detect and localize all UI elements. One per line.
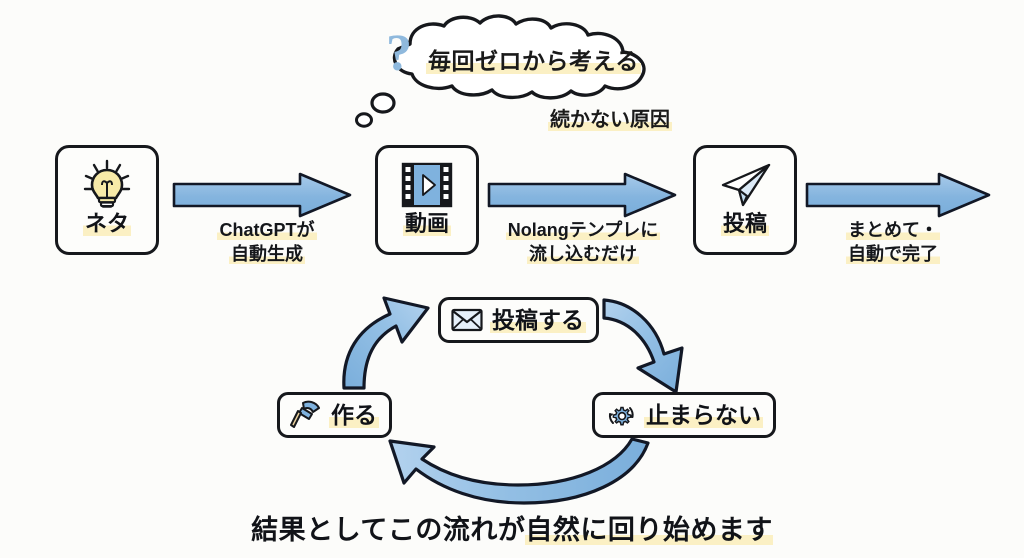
flow-arrow-3-caption: まとめて・ 自動で完了 <box>808 218 978 267</box>
cycle-node-post[interactable]: 投稿する <box>438 297 599 343</box>
video-film-icon <box>378 158 476 212</box>
hammer-icon <box>290 399 322 431</box>
flow-card-label: 投稿 <box>696 206 794 238</box>
bottom-caption-highlighted: 自然に回り始めます <box>525 515 773 545</box>
flow-arrow-3-icon <box>805 172 993 218</box>
flow-card-label: 動画 <box>378 206 476 238</box>
flow-card-label: ネタ <box>58 206 156 238</box>
flow-arrow-1-caption: ChatGPTが 自動生成 <box>182 218 352 267</box>
bottom-caption-plain: 結果としてこの流れが <box>251 515 525 545</box>
flow-arrow-1-icon <box>172 172 354 218</box>
cycle-node-label: 止まらない <box>644 404 763 427</box>
flow-card-douga[interactable]: 動画 <box>375 145 479 255</box>
cycle-node-nonstop[interactable]: 止まらない <box>592 392 776 438</box>
thought-bubble-tail <box>350 88 410 134</box>
gear-refresh-icon <box>605 399 637 431</box>
envelope-icon <box>451 304 483 336</box>
cycle-node-make[interactable]: 作る <box>277 392 392 438</box>
cycle-arrow-make-to-post-icon <box>332 292 444 394</box>
infographic-canvas: ? 毎回ゼロから考える 続かない原因 <box>0 0 1024 558</box>
flow-card-toko[interactable]: 投稿 <box>693 145 797 255</box>
flow-arrow-2-icon <box>487 172 679 218</box>
lightbulb-icon <box>58 158 156 212</box>
cause-note: 続かない原因 <box>548 103 672 132</box>
cycle-arrow-post-to-nonstop-icon <box>598 292 710 394</box>
cycle-arrow-nonstop-to-make-icon <box>358 437 668 509</box>
cycle-node-label: 投稿する <box>490 309 586 332</box>
cycle-node-label: 作る <box>329 404 379 427</box>
question-mark-icon: ? <box>386 24 412 83</box>
flow-arrow-2-caption: Nolangテンプレに 流し込むだけ <box>483 218 683 267</box>
thought-bubble-text: 毎回ゼロから考える <box>426 42 656 76</box>
paper-plane-icon <box>696 158 794 212</box>
flow-card-neta[interactable]: ネタ <box>55 145 159 255</box>
bottom-caption: 結果としてこの流れが自然に回り始めます <box>0 508 1024 547</box>
